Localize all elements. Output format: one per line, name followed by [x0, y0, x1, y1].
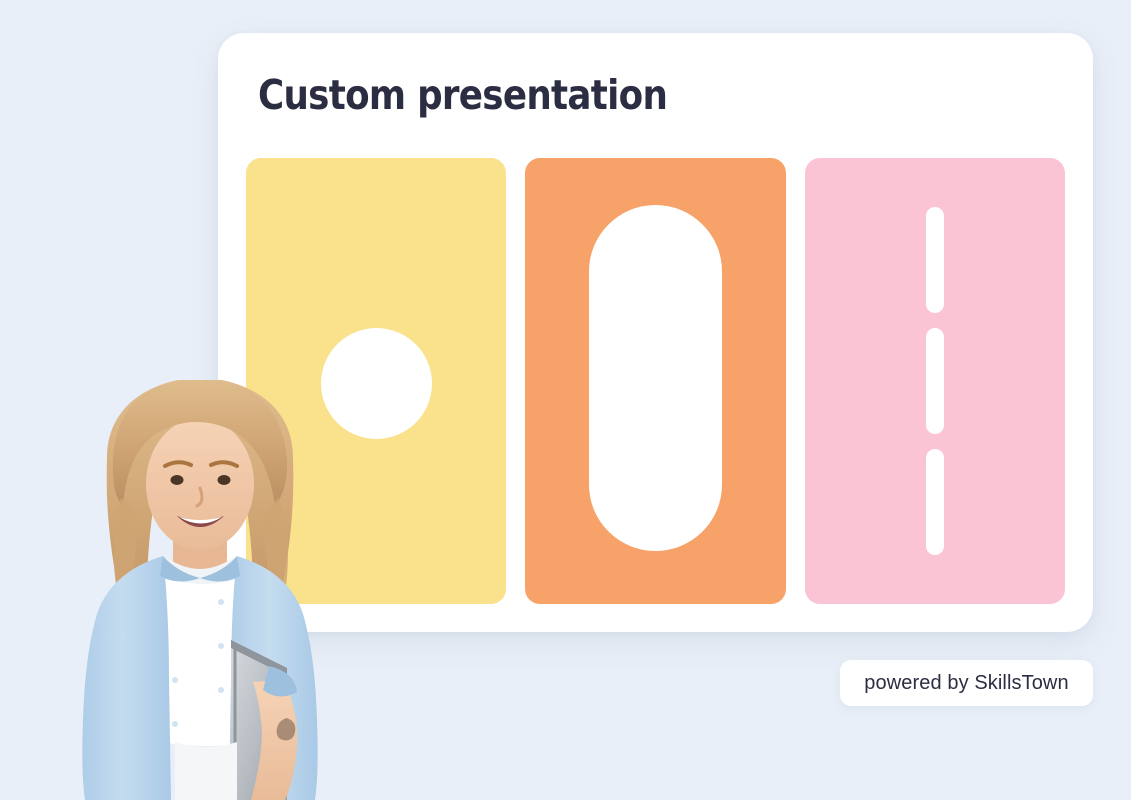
page-title: Custom presentation: [258, 75, 667, 116]
bars-shape-icon: [926, 207, 944, 555]
tile-yellow[interactable]: [246, 158, 506, 604]
powered-by-badge[interactable]: powered by SkillsTown: [840, 660, 1093, 706]
tile-pink[interactable]: [805, 158, 1065, 604]
laptop: [231, 640, 287, 800]
tile-orange[interactable]: [525, 158, 785, 604]
circle-shape-icon: [321, 328, 432, 439]
tile-row: [246, 158, 1065, 604]
bar-segment: [926, 449, 944, 555]
slide-stage: Custom presentation: [0, 0, 1131, 800]
forearm: [251, 680, 297, 800]
pill-shape-icon: [589, 205, 722, 551]
powered-by-label: powered by SkillsTown: [864, 672, 1068, 695]
trousers: [175, 742, 237, 800]
bar-segment: [926, 207, 944, 313]
bar-segment: [926, 328, 944, 434]
shirt-left: [82, 556, 171, 800]
slide-card[interactable]: Custom presentation: [218, 33, 1093, 632]
